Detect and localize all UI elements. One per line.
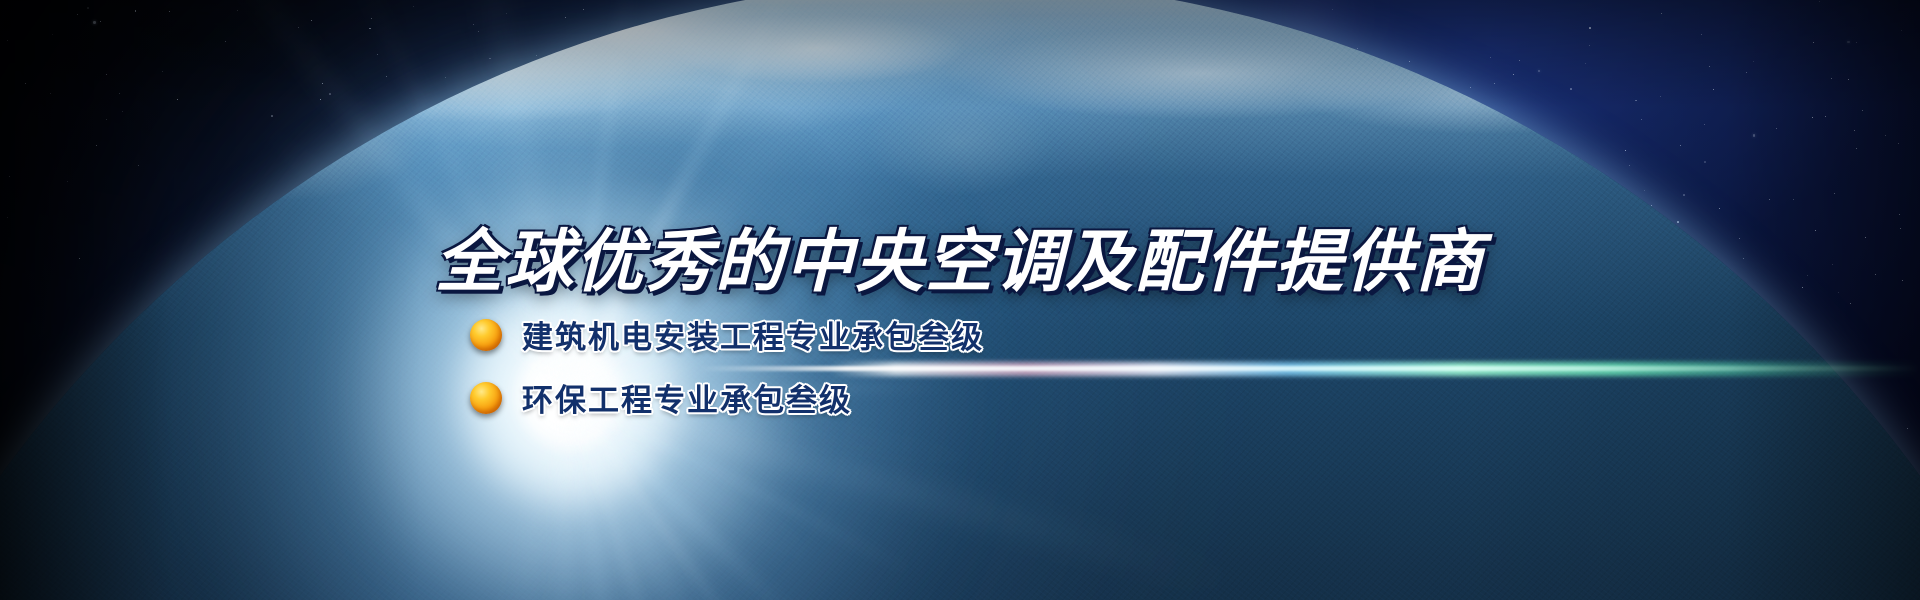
page-title: 全球优秀的中央空调及配件提供商 bbox=[0, 206, 1920, 305]
list-item-label: 建筑机电安装工程专业承包叁级 bbox=[522, 312, 984, 357]
certification-list: 建筑机电安装工程专业承包叁级 环保工程专业承包叁级 bbox=[470, 312, 984, 420]
list-item: 环保工程专业承包叁级 bbox=[470, 375, 984, 420]
orange-dot-icon bbox=[470, 319, 502, 351]
orange-dot-icon bbox=[470, 382, 502, 414]
list-item: 建筑机电安装工程专业承包叁级 bbox=[470, 312, 984, 357]
hero-banner: 全球优秀的中央空调及配件提供商 建筑机电安装工程专业承包叁级 环保工程专业承包叁… bbox=[0, 0, 1920, 600]
banner-content: 全球优秀的中央空调及配件提供商 建筑机电安装工程专业承包叁级 环保工程专业承包叁… bbox=[0, 0, 1920, 600]
list-item-label: 环保工程专业承包叁级 bbox=[522, 375, 852, 420]
